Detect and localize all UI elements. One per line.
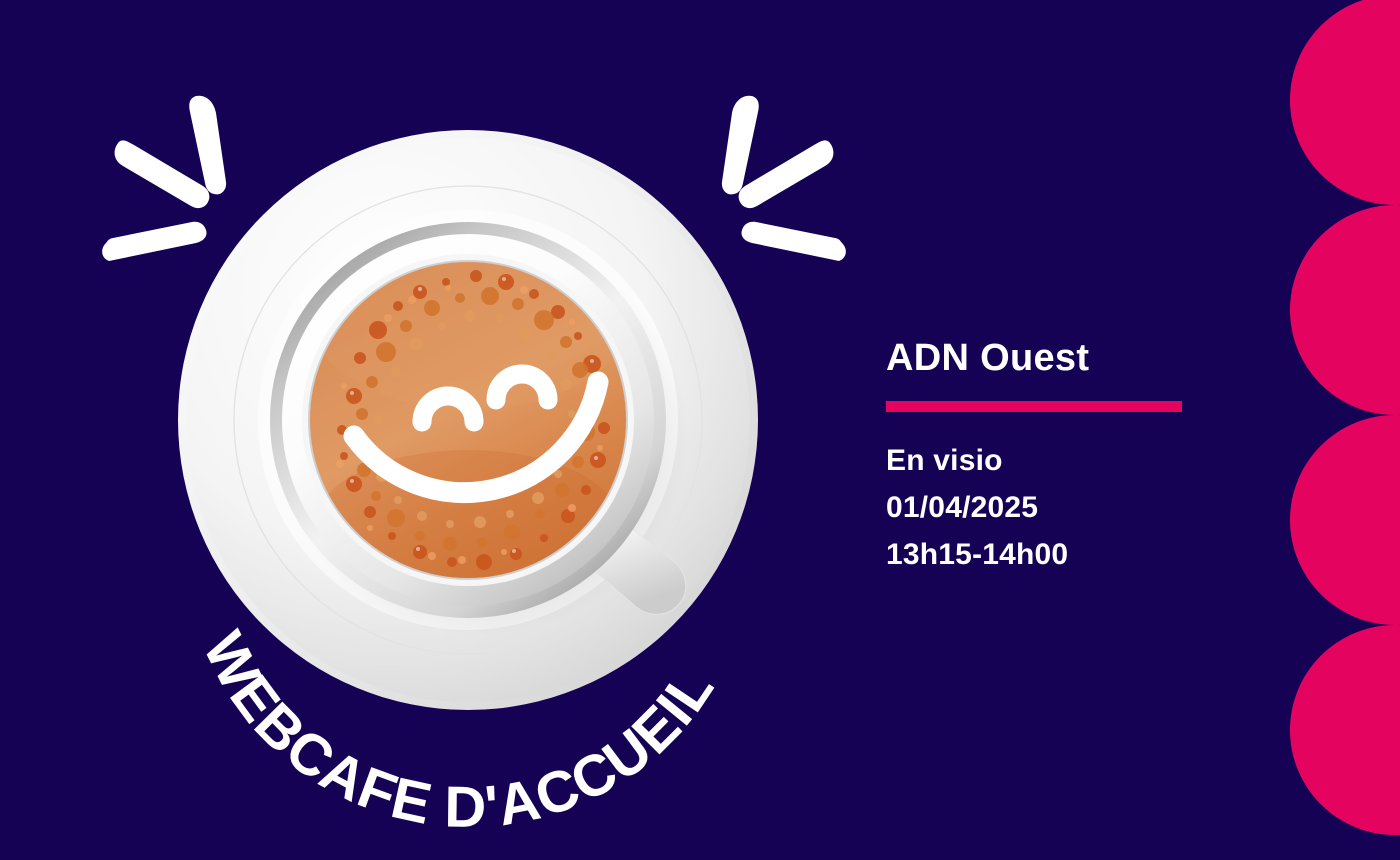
event-format: En visio	[886, 437, 1306, 484]
sparkle-rays-right	[722, 96, 846, 261]
event-date: 01/04/2025	[886, 484, 1306, 531]
coffee-cup-smiley-illustration: WEBCAFE D'ACCUEIL	[0, 0, 900, 860]
scallop-circles	[1290, 0, 1400, 835]
sparkle-rays-left	[102, 96, 226, 261]
scalloped-circles-right-edge	[1290, 0, 1400, 860]
event-info-block: ADN Ouest En visio 01/04/2025 13h15-14h0…	[886, 336, 1306, 578]
accent-divider	[886, 401, 1182, 412]
organization-title: ADN Ouest	[886, 336, 1306, 380]
webcafe-banner: WEBCAFE D'ACCUEIL ADN Ouest En visio 01/…	[0, 0, 1400, 860]
event-time: 13h15-14h00	[886, 531, 1306, 578]
